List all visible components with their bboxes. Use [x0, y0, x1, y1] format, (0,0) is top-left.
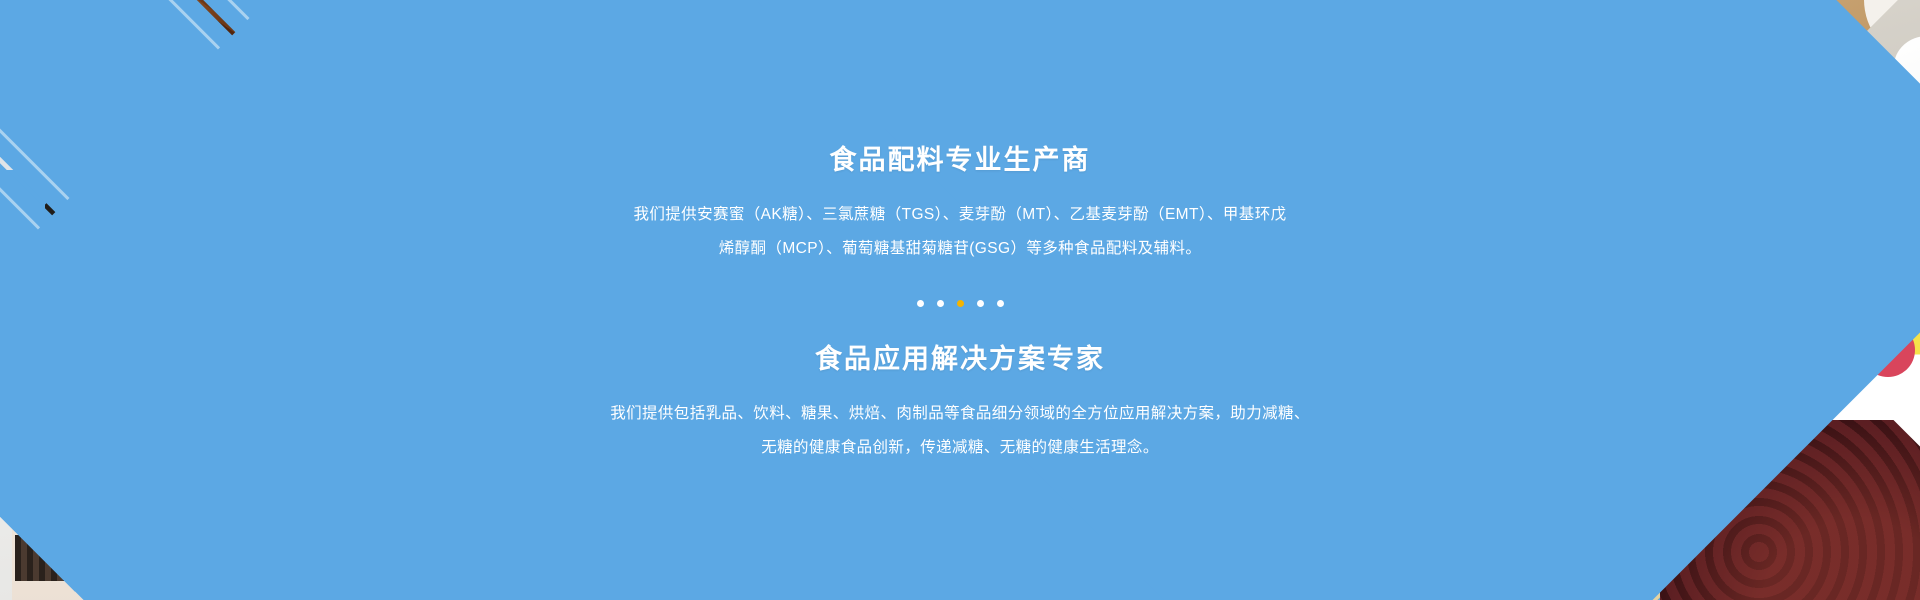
divider-dot-3-accent	[957, 300, 964, 307]
divider-dot-5	[997, 300, 1004, 307]
headline-manufacturer: 食品配料专业生产商	[550, 144, 1370, 176]
body-line: 无糖的健康食品创新，传递减糖、无糖的健康生活理念。	[550, 431, 1370, 464]
dots-divider	[917, 299, 1004, 307]
section-manufacturer: 食品配料专业生产商 我们提供安赛蜜（AK糖）、三氯蔗糖（TGS）、麦芽酚（MT）…	[550, 144, 1370, 265]
banner-content: 食品配料专业生产商 我们提供安赛蜜（AK糖）、三氯蔗糖（TGS）、麦芽酚（MT）…	[0, 0, 1920, 600]
body-line: 烯醇酮（MCP）、葡萄糖基甜菊糖苷(GSG）等多种食品配料及辅料。	[550, 232, 1370, 265]
divider-dot-4	[977, 300, 984, 307]
divider-dot-1	[917, 300, 924, 307]
body-line: 我们提供安赛蜜（AK糖）、三氯蔗糖（TGS）、麦芽酚（MT）、乙基麦芽酚（EMT…	[550, 198, 1370, 231]
body-manufacturer: 我们提供安赛蜜（AK糖）、三氯蔗糖（TGS）、麦芽酚（MT）、乙基麦芽酚（EMT…	[550, 198, 1370, 265]
body-line: 我们提供包括乳品、饮料、糖果、烘焙、肉制品等食品细分领域的全方位应用解决方案，助…	[550, 397, 1370, 430]
headline-solutions: 食品应用解决方案专家	[550, 343, 1370, 375]
promo-banner: 食品配料专业生产商 我们提供安赛蜜（AK糖）、三氯蔗糖（TGS）、麦芽酚（MT）…	[0, 0, 1920, 600]
body-solutions: 我们提供包括乳品、饮料、糖果、烘焙、肉制品等食品细分领域的全方位应用解决方案，助…	[550, 397, 1370, 464]
divider-dot-2	[937, 300, 944, 307]
section-solutions: 食品应用解决方案专家 我们提供包括乳品、饮料、糖果、烘焙、肉制品等食品细分领域的…	[550, 343, 1370, 464]
